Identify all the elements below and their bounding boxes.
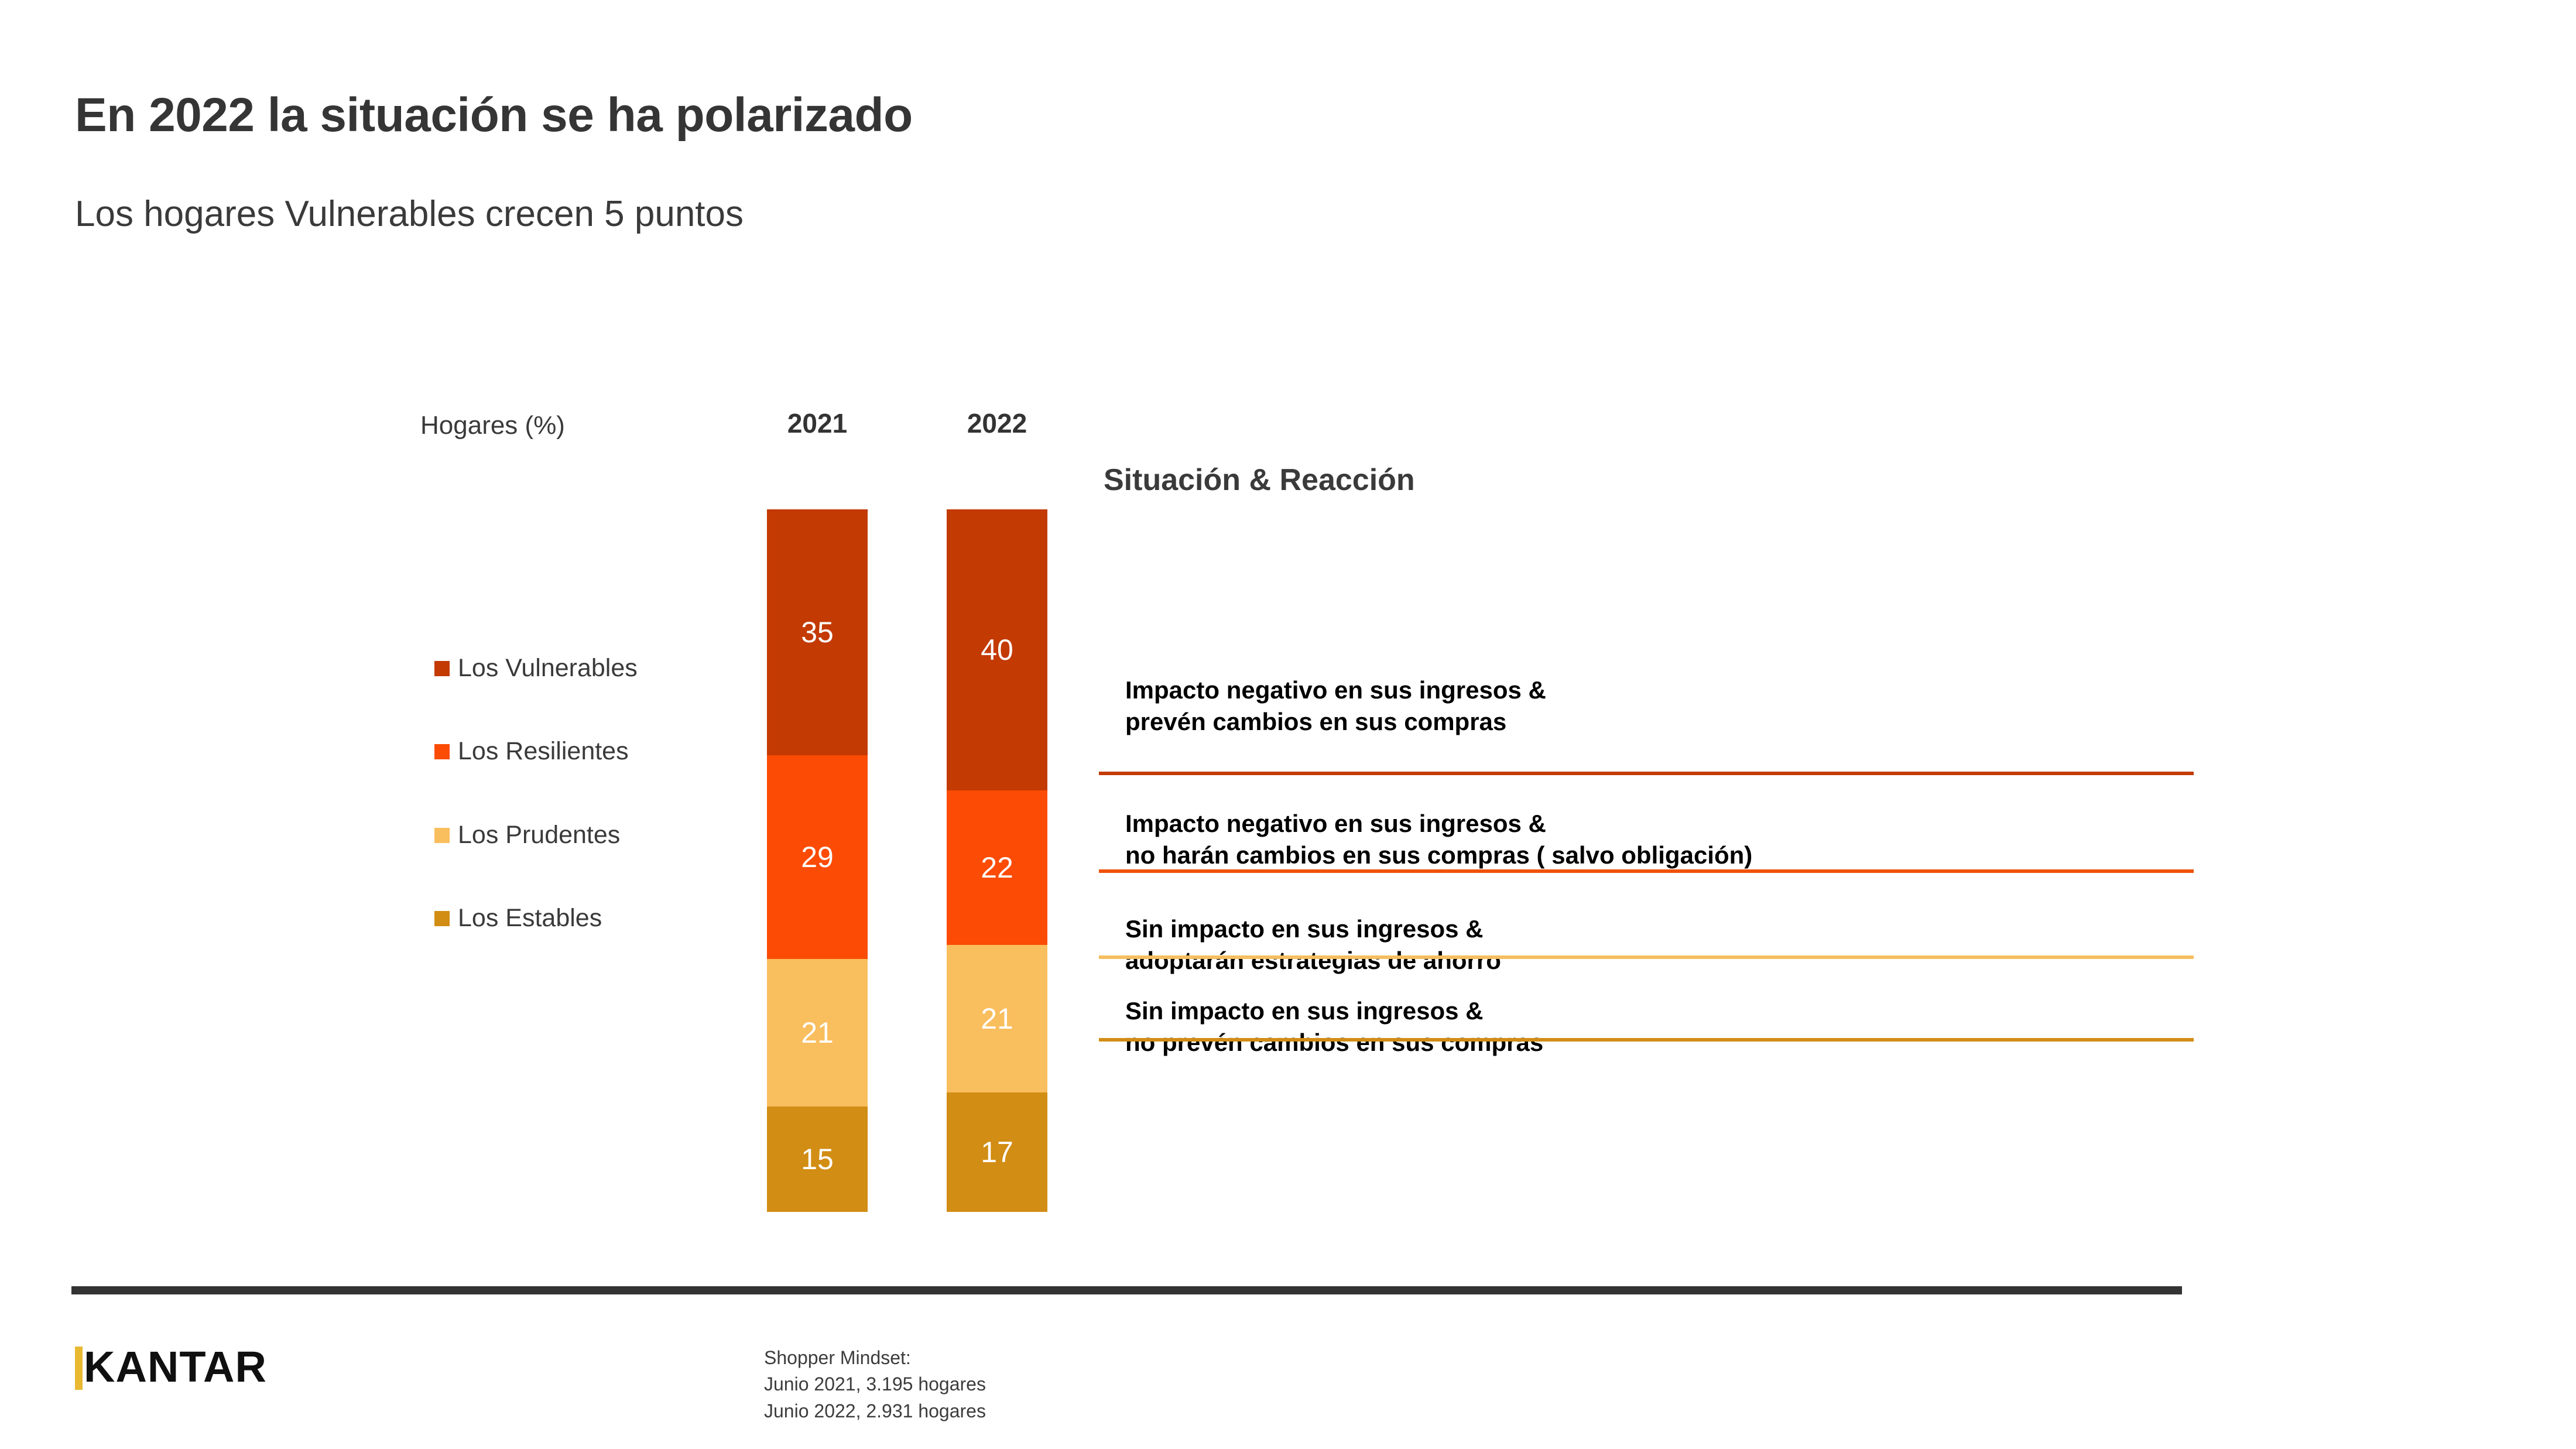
logo-accent-bar <box>75 1347 83 1390</box>
reaction-divider-1 <box>1099 869 2194 873</box>
bar-segment: 22 <box>947 790 1047 945</box>
chart-axis-label: Hogares (%) <box>420 411 565 440</box>
bar-segment: 21 <box>947 945 1047 1092</box>
bar-segment: 21 <box>767 959 868 1107</box>
bar-segment: 17 <box>947 1092 1047 1212</box>
legend-item-label: Los Resilientes <box>458 739 629 764</box>
reaction-divider-0 <box>1099 772 2194 775</box>
legend-swatch-icon <box>434 661 450 676</box>
stacked-bar-2022: 40222117 <box>947 509 1047 1212</box>
bar-segment-value: 17 <box>981 1138 1013 1167</box>
logo-wordmark: KANTAR <box>84 1347 267 1390</box>
reaction-block-1: Impacto negativo en sus ingresos &no har… <box>1125 808 2238 871</box>
reaction-line-1: Impacto negativo en sus ingresos & <box>1125 808 2238 840</box>
kantar-logo: KANTAR <box>75 1347 267 1390</box>
reaction-divider-3 <box>1099 1038 2194 1042</box>
legend-item-1[interactable]: Los Resilientes <box>434 739 629 764</box>
bar-segment-value: 22 <box>981 853 1013 882</box>
legend-item-label: Los Vulnerables <box>458 656 638 681</box>
legend-item-label: Los Estables <box>458 906 602 931</box>
reaction-block-3: Sin impacto en sus ingresos &no prevén c… <box>1125 995 2238 1059</box>
column-header-2022: 2022 <box>938 407 1056 439</box>
panel-title: Situación & Reacción <box>1104 463 1415 498</box>
reaction-divider-2 <box>1099 955 2194 959</box>
page-subtitle: Los hogares Vulnerables crecen 5 puntos <box>75 193 744 235</box>
stacked-bar-2021: 35292115 <box>767 509 868 1212</box>
reaction-line-2: no harán cambios en sus compras ( salvo … <box>1125 840 2238 871</box>
reaction-line-1: Sin impacto en sus ingresos & <box>1125 913 2238 945</box>
reaction-line-1: Impacto negativo en sus ingresos & <box>1125 674 2238 706</box>
reaction-line-2: prevén cambios en sus compras <box>1125 706 2238 738</box>
reaction-line-1: Sin impacto en sus ingresos & <box>1125 995 2238 1027</box>
page-title: En 2022 la situación se ha polarizado <box>75 88 913 143</box>
source-note: Shopper Mindset: Junio 2021, 3.195 hogar… <box>764 1345 986 1424</box>
legend-item-0[interactable]: Los Vulnerables <box>434 656 638 681</box>
bar-segment: 29 <box>767 755 868 959</box>
bar-segment-value: 40 <box>981 635 1013 664</box>
legend-swatch-icon <box>434 911 450 926</box>
reaction-line-2: no prevén cambios en sus compras <box>1125 1027 2238 1059</box>
bar-segment-value: 35 <box>801 618 834 647</box>
bar-segment-value: 15 <box>801 1145 834 1174</box>
bar-segment-value: 21 <box>981 1004 1013 1033</box>
legend-item-2[interactable]: Los Prudentes <box>434 823 620 848</box>
reaction-block-0: Impacto negativo en sus ingresos &prevén… <box>1125 674 2238 738</box>
bar-segment: 40 <box>947 509 1047 790</box>
legend-item-3[interactable]: Los Estables <box>434 906 602 931</box>
bar-segment: 15 <box>767 1107 868 1212</box>
legend-item-label: Los Prudentes <box>458 823 620 848</box>
footer-divider <box>71 1286 2182 1294</box>
column-header-2021: 2021 <box>759 407 876 439</box>
bar-segment: 35 <box>767 509 868 755</box>
legend-swatch-icon <box>434 744 450 759</box>
bar-segment-value: 29 <box>801 842 834 872</box>
legend-swatch-icon <box>434 828 450 843</box>
bar-segment-value: 21 <box>801 1018 834 1047</box>
reaction-line-2: adoptarán estrategias de ahorro <box>1125 945 2238 977</box>
reaction-block-2: Sin impacto en sus ingresos &adoptarán e… <box>1125 913 2238 977</box>
